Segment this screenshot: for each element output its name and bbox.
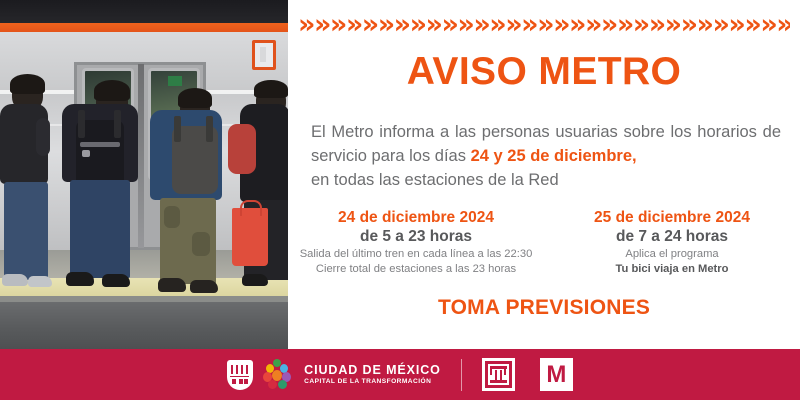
hours-note-2: Tu bici viaja en Metro — [548, 262, 796, 277]
footer-bar: CIUDAD DE MÉXICO CAPITAL DE LA TRANSFORM… — [0, 349, 800, 400]
cdmx-subtitle: CAPITAL DE LA TRANSFORMACIÓN — [304, 377, 441, 386]
footer-divider — [461, 359, 462, 391]
metro-letter: M — [546, 363, 566, 387]
hours-text: de 5 a 23 horas — [292, 227, 540, 247]
lead-highlight-dates: 24 y 25 de diciembre, — [471, 147, 637, 165]
metro-notice-poster: »»»»»»»»»»»»»»»»»»»»»»»»»»»»»»»»»»»»»»»»… — [0, 0, 800, 400]
prehispanic-pattern-logo-icon — [482, 358, 515, 391]
photo-orange-stripe — [0, 23, 288, 32]
service-hours-dec24: 24 de diciembre 2024 de 5 a 23 horas Sal… — [288, 208, 544, 276]
chevron-divider-icon: »»»»»»»»»»»»»»»»»»»»»»»»»»»»»»»»»»»»»»»»… — [298, 12, 790, 36]
service-hours-columns: 24 de diciembre 2024 de 5 a 23 horas Sal… — [288, 208, 800, 276]
cdmx-floral-emblem-icon — [262, 359, 292, 390]
hours-text: de 7 a 24 horas — [548, 227, 796, 247]
photo-ceiling — [0, 0, 288, 23]
metro-logo-icon: M — [540, 358, 573, 391]
call-to-action: TOMA PREVISIONES — [288, 296, 800, 320]
service-hours-dec25: 25 de diciembre 2024 de 7 a 24 horas Apl… — [544, 208, 800, 276]
photo-door-indicator-icon — [252, 40, 276, 70]
photo-floor-edge — [0, 296, 288, 302]
date-heading: 24 de diciembre 2024 — [292, 208, 540, 227]
metro-platform-photo — [0, 0, 288, 349]
notice-content: »»»»»»»»»»»»»»»»»»»»»»»»»»»»»»»»»»»»»»»»… — [288, 0, 800, 349]
cdmx-title: CIUDAD DE MÉXICO — [304, 363, 441, 377]
lead-part-2: en todas las estaciones de la Red — [311, 168, 781, 192]
photo-green-sign — [168, 76, 182, 86]
photo-door-gap — [138, 64, 144, 248]
hours-note-1: Salida del último tren en cada línea a l… — [292, 247, 540, 262]
hours-note-2: Cierre total de estaciones a las 23 hora… — [292, 262, 540, 277]
notice-lead-text: El Metro informa a las personas usuarias… — [311, 120, 781, 192]
photo-floor — [0, 296, 288, 349]
cdmx-wordmark: CIUDAD DE MÉXICO CAPITAL DE LA TRANSFORM… — [304, 363, 441, 386]
cdmx-shield-icon — [227, 360, 253, 390]
hours-note-1: Aplica el programa — [548, 247, 796, 262]
page-title: AVISO METRO — [288, 50, 800, 94]
date-heading: 25 de diciembre 2024 — [548, 208, 796, 227]
